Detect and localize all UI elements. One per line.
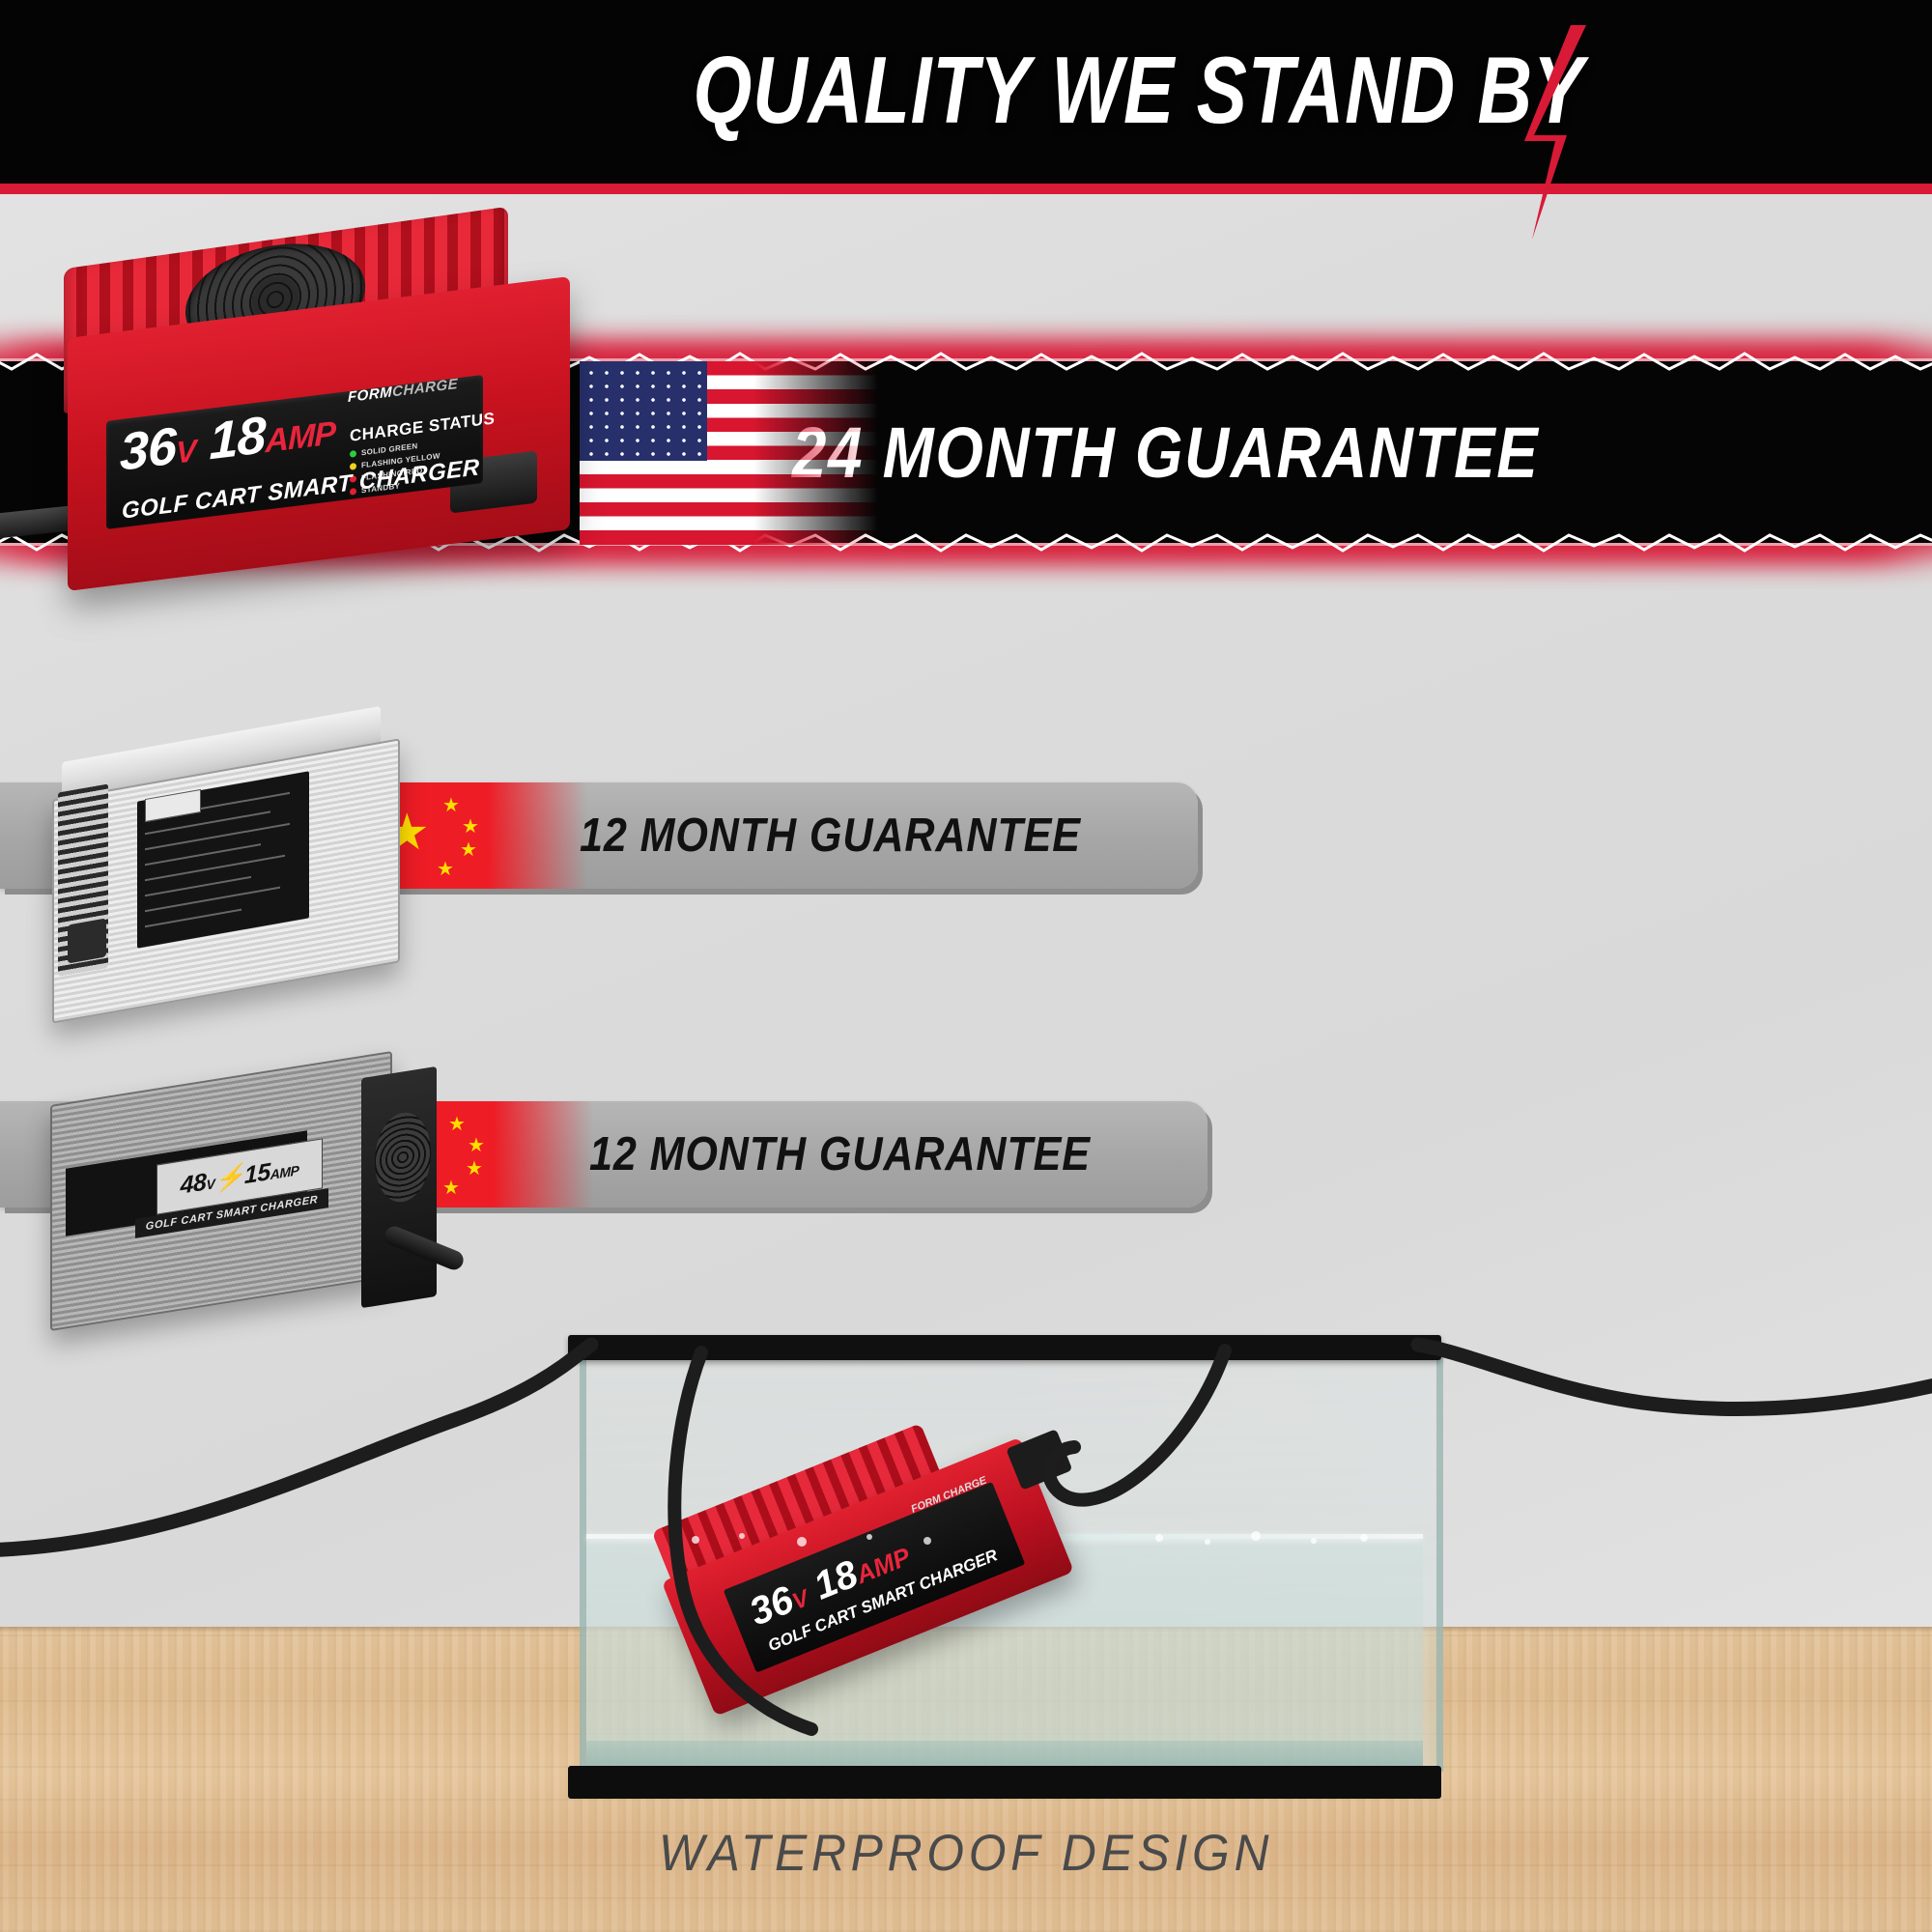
competitor2-voltage: 48 <box>181 1168 207 1199</box>
competitor2-amperage-unit: AMP <box>270 1162 299 1182</box>
status-led-green-icon <box>350 450 356 458</box>
cn-star-icon: ★ <box>462 817 479 837</box>
competitor-guarantee-label-2: 12 MONTH GUARANTEE <box>589 1101 1091 1207</box>
competitor2-voltage-unit: V <box>206 1176 214 1192</box>
competitor-guarantee-label-1: 12 MONTH GUARANTEE <box>580 782 1081 889</box>
cn-star-icon: ★ <box>442 796 460 815</box>
competitor-product-dark-charger: 48V⚡15AMP GOLF CART SMART CHARGER <box>43 1068 429 1320</box>
competitor-product-silver-charger <box>44 734 412 1005</box>
competitor1-ac-socket <box>68 918 106 963</box>
cn-star-icon: ★ <box>466 1159 483 1179</box>
hero-guarantee-label: 24 MONTH GUARANTEE <box>792 361 1673 543</box>
infographic-stage: QUALITY WE STAND BY 24 MONTH GUARANTEE F… <box>0 0 1932 1932</box>
cn-star-icon: ★ <box>442 1179 460 1198</box>
cn-star-icon: ★ <box>437 860 454 879</box>
cn-star-icon: ★ <box>468 1136 485 1155</box>
header-divider <box>0 184 1932 194</box>
lightning-bolt-icon <box>1499 21 1615 243</box>
page-title: QUALITY WE STAND BY <box>317 27 1584 153</box>
header-banner: QUALITY WE STAND BY <box>0 0 1932 184</box>
hero-voltage: 36 <box>120 417 176 482</box>
cn-star-icon: ★ <box>448 1115 466 1134</box>
aquarium-tank: FORM CHARGE 36V 18AMP GOLF CART SMART CH… <box>580 1335 1430 1799</box>
water-bubbles-icon <box>580 1335 1430 1799</box>
cn-star-icon: ★ <box>460 840 477 860</box>
competitor2-amperage: 15 <box>244 1157 270 1188</box>
hero-voltage-unit: V <box>176 433 195 469</box>
hero-amperage-unit: AMP <box>266 414 336 460</box>
hero-product-red-charger: FORMCHARGE 36V 18AMP GOLF CART SMART CHA… <box>14 228 632 624</box>
competitor2-spec-line: 48V⚡15AMP <box>181 1153 299 1200</box>
waterproof-caption: WATERPROOF DESIGN <box>58 1824 1874 1883</box>
hero-amperage: 18 <box>209 406 265 470</box>
